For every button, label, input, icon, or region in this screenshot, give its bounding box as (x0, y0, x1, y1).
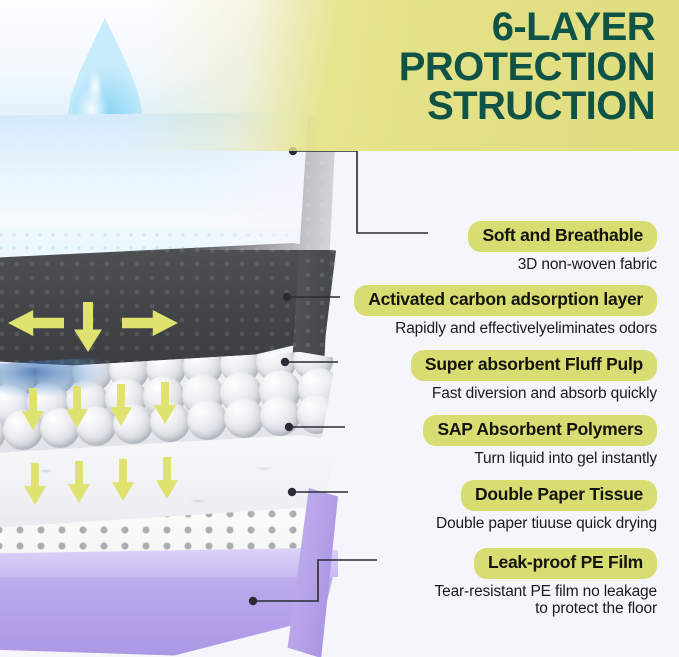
callout-6: Leak-proof PE Film Tear-resistant PE fil… (435, 548, 658, 618)
callout-4: SAP Absorbent Polymers Turn liquid into … (423, 415, 657, 467)
callout-2-title: Activated carbon adsorption layer (354, 285, 657, 316)
callout-2-description: Rapidly and effectivelyeliminates odors (354, 320, 657, 338)
page-title: 6-LAYER PROTECTION STRUCTION (399, 8, 655, 127)
infographic-canvas: 6-LAYER PROTECTION STRUCTION Soft and Br… (0, 0, 679, 657)
callout-1-description: 3D non-woven fabric (468, 256, 657, 274)
callout-6-description: Tear-resistant PE film no leakage to pro… (435, 583, 658, 619)
callout-2: Activated carbon adsorption layer Rapidl… (354, 285, 657, 337)
callout-3-description: Fast diversion and absorb quickly (411, 385, 657, 403)
callout-4-description: Turn liquid into gel instantly (423, 450, 657, 468)
callout-3: Super absorbent Fluff Pulp Fast diversio… (411, 350, 657, 402)
callout-5-description: Double paper tiuuse quick drying (436, 515, 657, 533)
callout-1: Soft and Breathable 3D non-woven fabric (468, 221, 657, 273)
callout-5: Double Paper Tissue Double paper tiuuse … (436, 480, 657, 532)
callout-1-title: Soft and Breathable (468, 221, 657, 252)
callout-3-title: Super absorbent Fluff Pulp (411, 350, 657, 381)
header-band: 6-LAYER PROTECTION STRUCTION (0, 0, 679, 151)
callout-4-title: SAP Absorbent Polymers (423, 415, 657, 446)
callout-6-title: Leak-proof PE Film (474, 548, 657, 579)
callout-5-title: Double Paper Tissue (461, 480, 657, 511)
